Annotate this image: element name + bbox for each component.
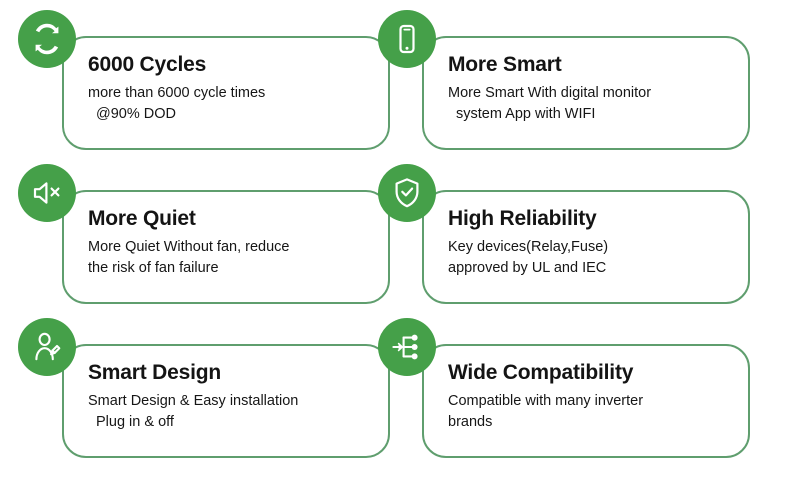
card-title: High Reliability xyxy=(448,208,734,230)
feature-card-high-reliability[interactable]: High Reliability Key devices(Relay,Fuse)… xyxy=(422,190,750,304)
network-branch-icon xyxy=(378,318,436,376)
card-description-line-1: More Quiet Without fan, reduce xyxy=(88,239,290,255)
feature-card-6000-cycles[interactable]: 6000 Cycles more than 6000 cycle times @… xyxy=(62,36,390,150)
card-description-line-2: brands xyxy=(448,412,734,433)
card-description-line-2: the risk of fan failure xyxy=(88,258,374,279)
card-description-line-2: system App with WIFI xyxy=(448,104,734,125)
card-description-line-2: Plug in & off xyxy=(88,412,374,433)
smartphone-icon xyxy=(378,10,436,68)
card-text-block: Wide Compatibility Compatible with many … xyxy=(448,362,734,433)
feature-grid: 6000 Cycles more than 6000 cycle times @… xyxy=(0,0,790,486)
person-tool-icon xyxy=(18,318,76,376)
card-description: Smart Design & Easy installation Plug in… xyxy=(88,391,374,433)
card-title: Smart Design xyxy=(88,362,374,384)
card-description: More Smart With digital monitor system A… xyxy=(448,83,734,125)
shield-check-icon xyxy=(378,164,436,222)
card-description-line-1: more than 6000 cycle times xyxy=(88,85,265,101)
feature-card-wide-compatibility[interactable]: Wide Compatibility Compatible with many … xyxy=(422,344,750,458)
card-text-block: Smart Design Smart Design & Easy install… xyxy=(88,362,374,433)
card-text-block: More Smart More Smart With digital monit… xyxy=(448,54,734,125)
card-text-block: More Quiet More Quiet Without fan, reduc… xyxy=(88,208,374,279)
feature-card-smart-design[interactable]: Smart Design Smart Design & Easy install… xyxy=(62,344,390,458)
card-description: More Quiet Without fan, reduce the risk … xyxy=(88,237,374,279)
feature-card-more-smart[interactable]: More Smart More Smart With digital monit… xyxy=(422,36,750,150)
speaker-mute-icon xyxy=(18,164,76,222)
card-title: 6000 Cycles xyxy=(88,54,374,76)
card-description-line-1: Smart Design & Easy installation xyxy=(88,393,298,409)
card-description: Key devices(Relay,Fuse) approved by UL a… xyxy=(448,237,734,279)
card-text-block: 6000 Cycles more than 6000 cycle times @… xyxy=(88,54,374,125)
card-description-line-2: @90% DOD xyxy=(88,104,374,125)
card-title: Wide Compatibility xyxy=(448,362,734,384)
feature-card-more-quiet[interactable]: More Quiet More Quiet Without fan, reduc… xyxy=(62,190,390,304)
card-title: More Quiet xyxy=(88,208,374,230)
card-description-line-1: Compatible with many inverter xyxy=(448,393,643,409)
recycle-arrows-icon xyxy=(18,10,76,68)
card-description-line-1: More Smart With digital monitor xyxy=(448,85,651,101)
card-description-line-1: Key devices(Relay,Fuse) xyxy=(448,239,608,255)
card-title: More Smart xyxy=(448,54,734,76)
card-description-line-2: approved by UL and IEC xyxy=(448,258,734,279)
card-text-block: High Reliability Key devices(Relay,Fuse)… xyxy=(448,208,734,279)
card-description: more than 6000 cycle times @90% DOD xyxy=(88,83,374,125)
card-description: Compatible with many inverter brands xyxy=(448,391,734,433)
